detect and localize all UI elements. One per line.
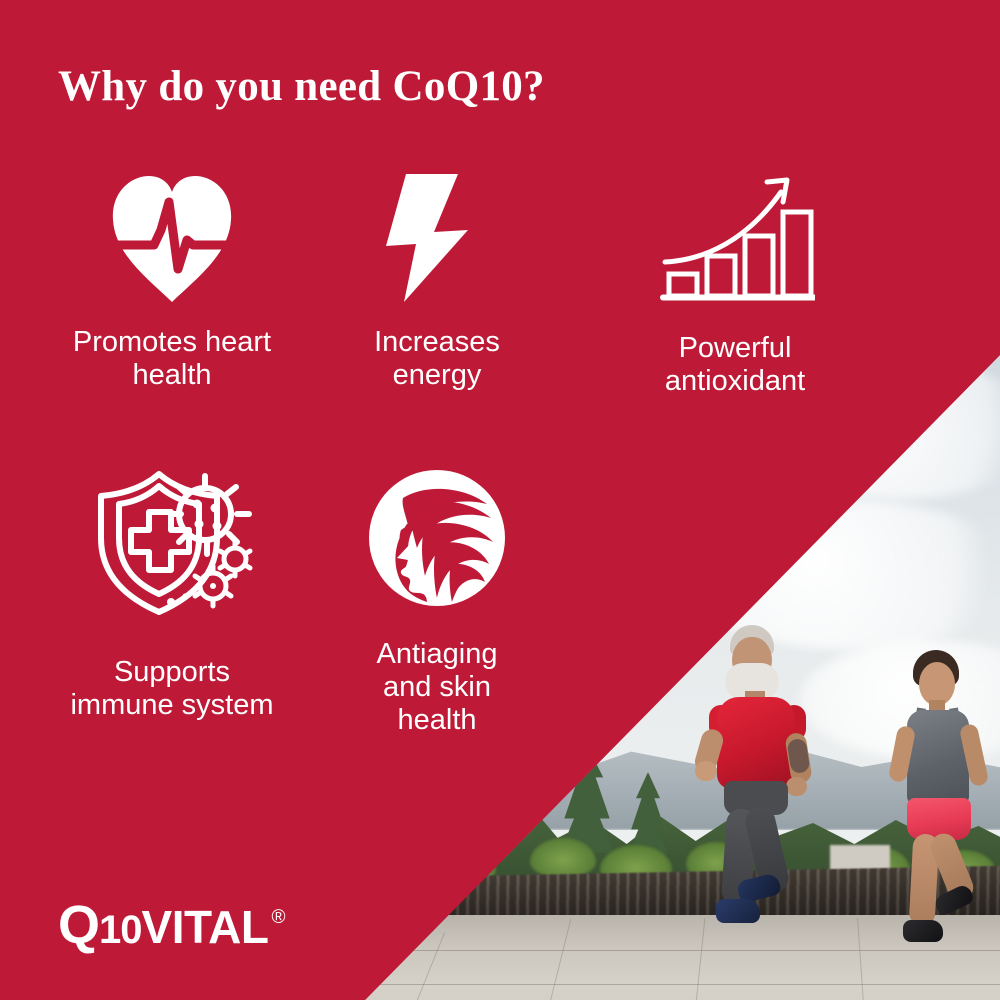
heart-pulse-icon — [107, 168, 237, 308]
benefit-label: Powerful antioxidant — [580, 332, 890, 398]
logo-vital: VITAL — [142, 904, 269, 950]
benefit-antiaging-and-skin-health: Antiaging and skin health — [322, 468, 552, 737]
content-layer: Why do you need CoQ10? Promotes heart he… — [0, 0, 1000, 1000]
brand-logo: Q 10 VITAL ® — [58, 898, 281, 952]
benefit-label: Increases energy — [322, 326, 552, 392]
lightning-bolt-icon — [372, 168, 502, 308]
benefit-label: Promotes heart health — [22, 326, 322, 392]
growth-chart-icon — [655, 168, 815, 308]
shield-virus-icon — [87, 468, 257, 618]
poster-canvas: Why do you need CoQ10? Promotes heart he… — [0, 0, 1000, 1000]
logo-q: Q — [58, 898, 99, 952]
benefit-increases-energy: Increases energy — [322, 168, 552, 392]
benefit-label: Antiaging and skin health — [322, 638, 552, 737]
benefit-supports-immune-system: Supports immune system — [22, 468, 322, 722]
benefit-promotes-heart-health: Promotes heart health — [22, 168, 322, 392]
logo-ten: 10 — [99, 910, 142, 950]
page-title: Why do you need CoQ10? — [58, 62, 545, 111]
woman-hair-icon — [367, 468, 507, 608]
benefit-label: Supports immune system — [22, 656, 322, 722]
benefit-powerful-antioxidant: Powerful antioxidant — [580, 168, 890, 398]
logo-registered: ® — [271, 908, 284, 927]
